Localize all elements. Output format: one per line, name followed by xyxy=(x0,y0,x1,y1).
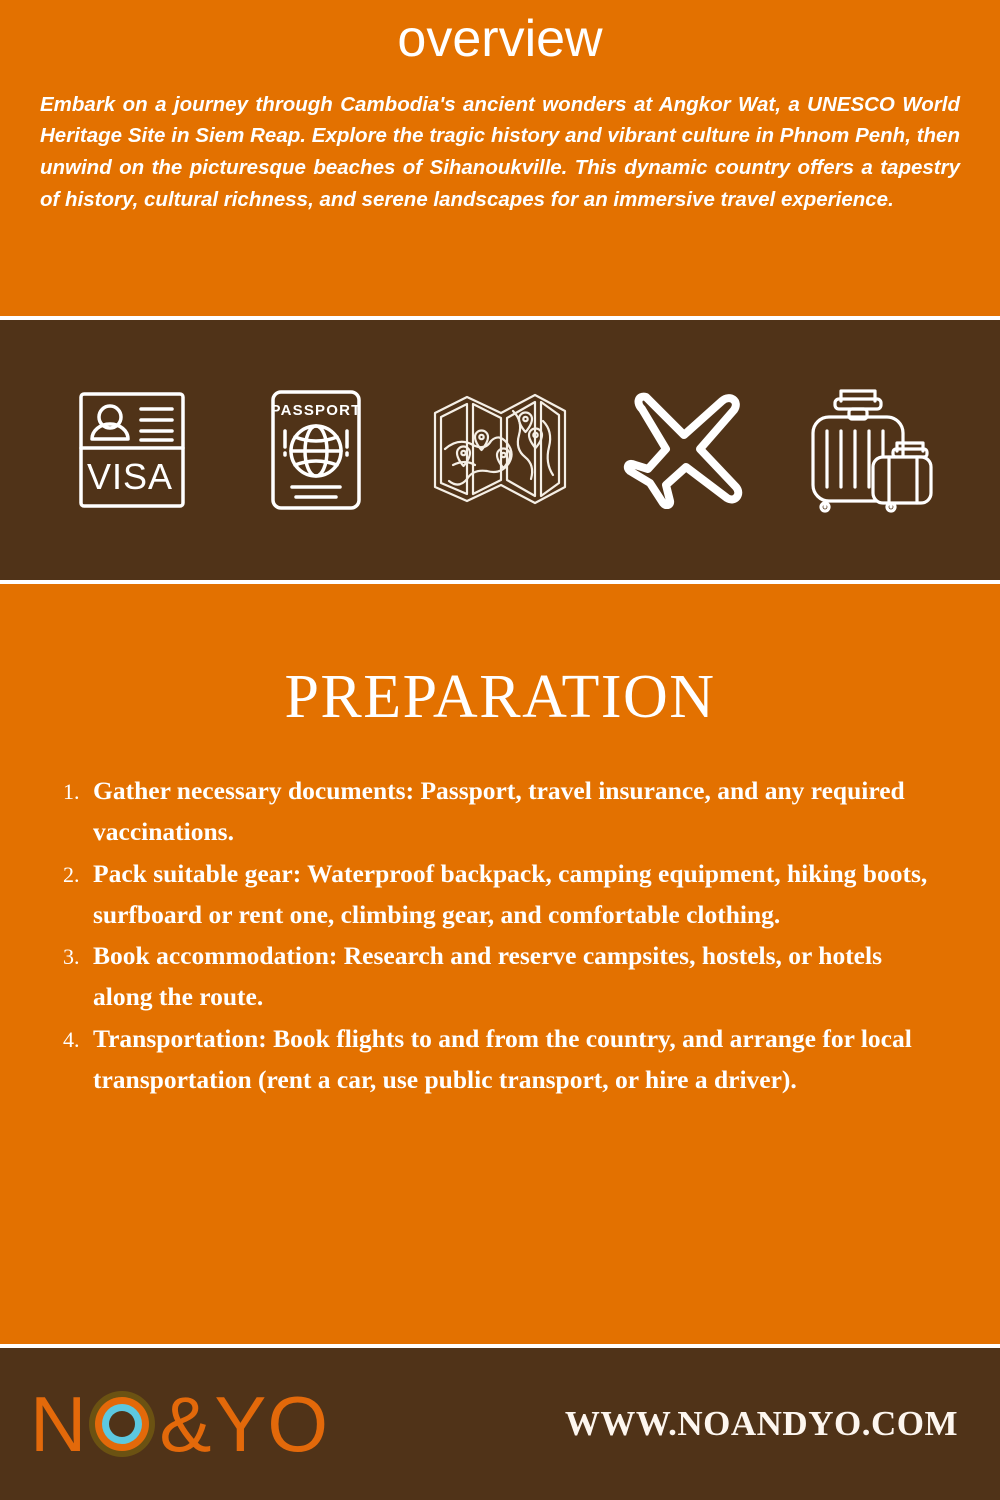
icon-band: VISA PASSPORT xyxy=(0,320,1000,580)
list-item: Gather necessary documents: Passport, tr… xyxy=(85,770,945,853)
folded-map-icon xyxy=(430,380,570,520)
overview-paragraph: Embark on a journey through Cambodia's a… xyxy=(0,67,1000,216)
overview-section: overview Embark on a journey through Cam… xyxy=(0,0,1000,316)
visa-card-icon: VISA xyxy=(62,380,202,520)
preparation-title: PREPARATION xyxy=(0,584,1000,728)
svg-text:PASSPORT: PASSPORT xyxy=(270,402,361,419)
airplane-icon xyxy=(614,380,754,520)
noandyo-logo[interactable]: N & YO xyxy=(30,1385,329,1463)
logo-letters-yo: YO xyxy=(214,1385,329,1463)
footer: N & YO WWW.NOANDYO.COM xyxy=(0,1348,1000,1500)
overview-title: overview xyxy=(0,0,1000,67)
list-item: Transportation: Book flights to and from… xyxy=(85,1018,945,1101)
infographic-page: overview Embark on a journey through Cam… xyxy=(0,0,1000,1500)
svg-text:VISA: VISA xyxy=(87,456,173,497)
logo-letter-n: N xyxy=(30,1385,87,1463)
luggage-icon xyxy=(798,380,938,520)
list-item: Pack suitable gear: Waterproof backpack,… xyxy=(85,853,945,936)
footer-website-url[interactable]: WWW.NOANDYO.COM xyxy=(565,1404,958,1444)
list-item: Book accommodation: Research and reserve… xyxy=(85,935,945,1018)
preparation-list: Gather necessary documents: Passport, tr… xyxy=(0,728,1000,1100)
logo-ampersand: & xyxy=(159,1385,212,1463)
passport-icon: PASSPORT xyxy=(246,380,386,520)
preparation-section: PREPARATION Gather necessary documents: … xyxy=(0,584,1000,1344)
logo-concentric-o-icon xyxy=(89,1391,155,1457)
